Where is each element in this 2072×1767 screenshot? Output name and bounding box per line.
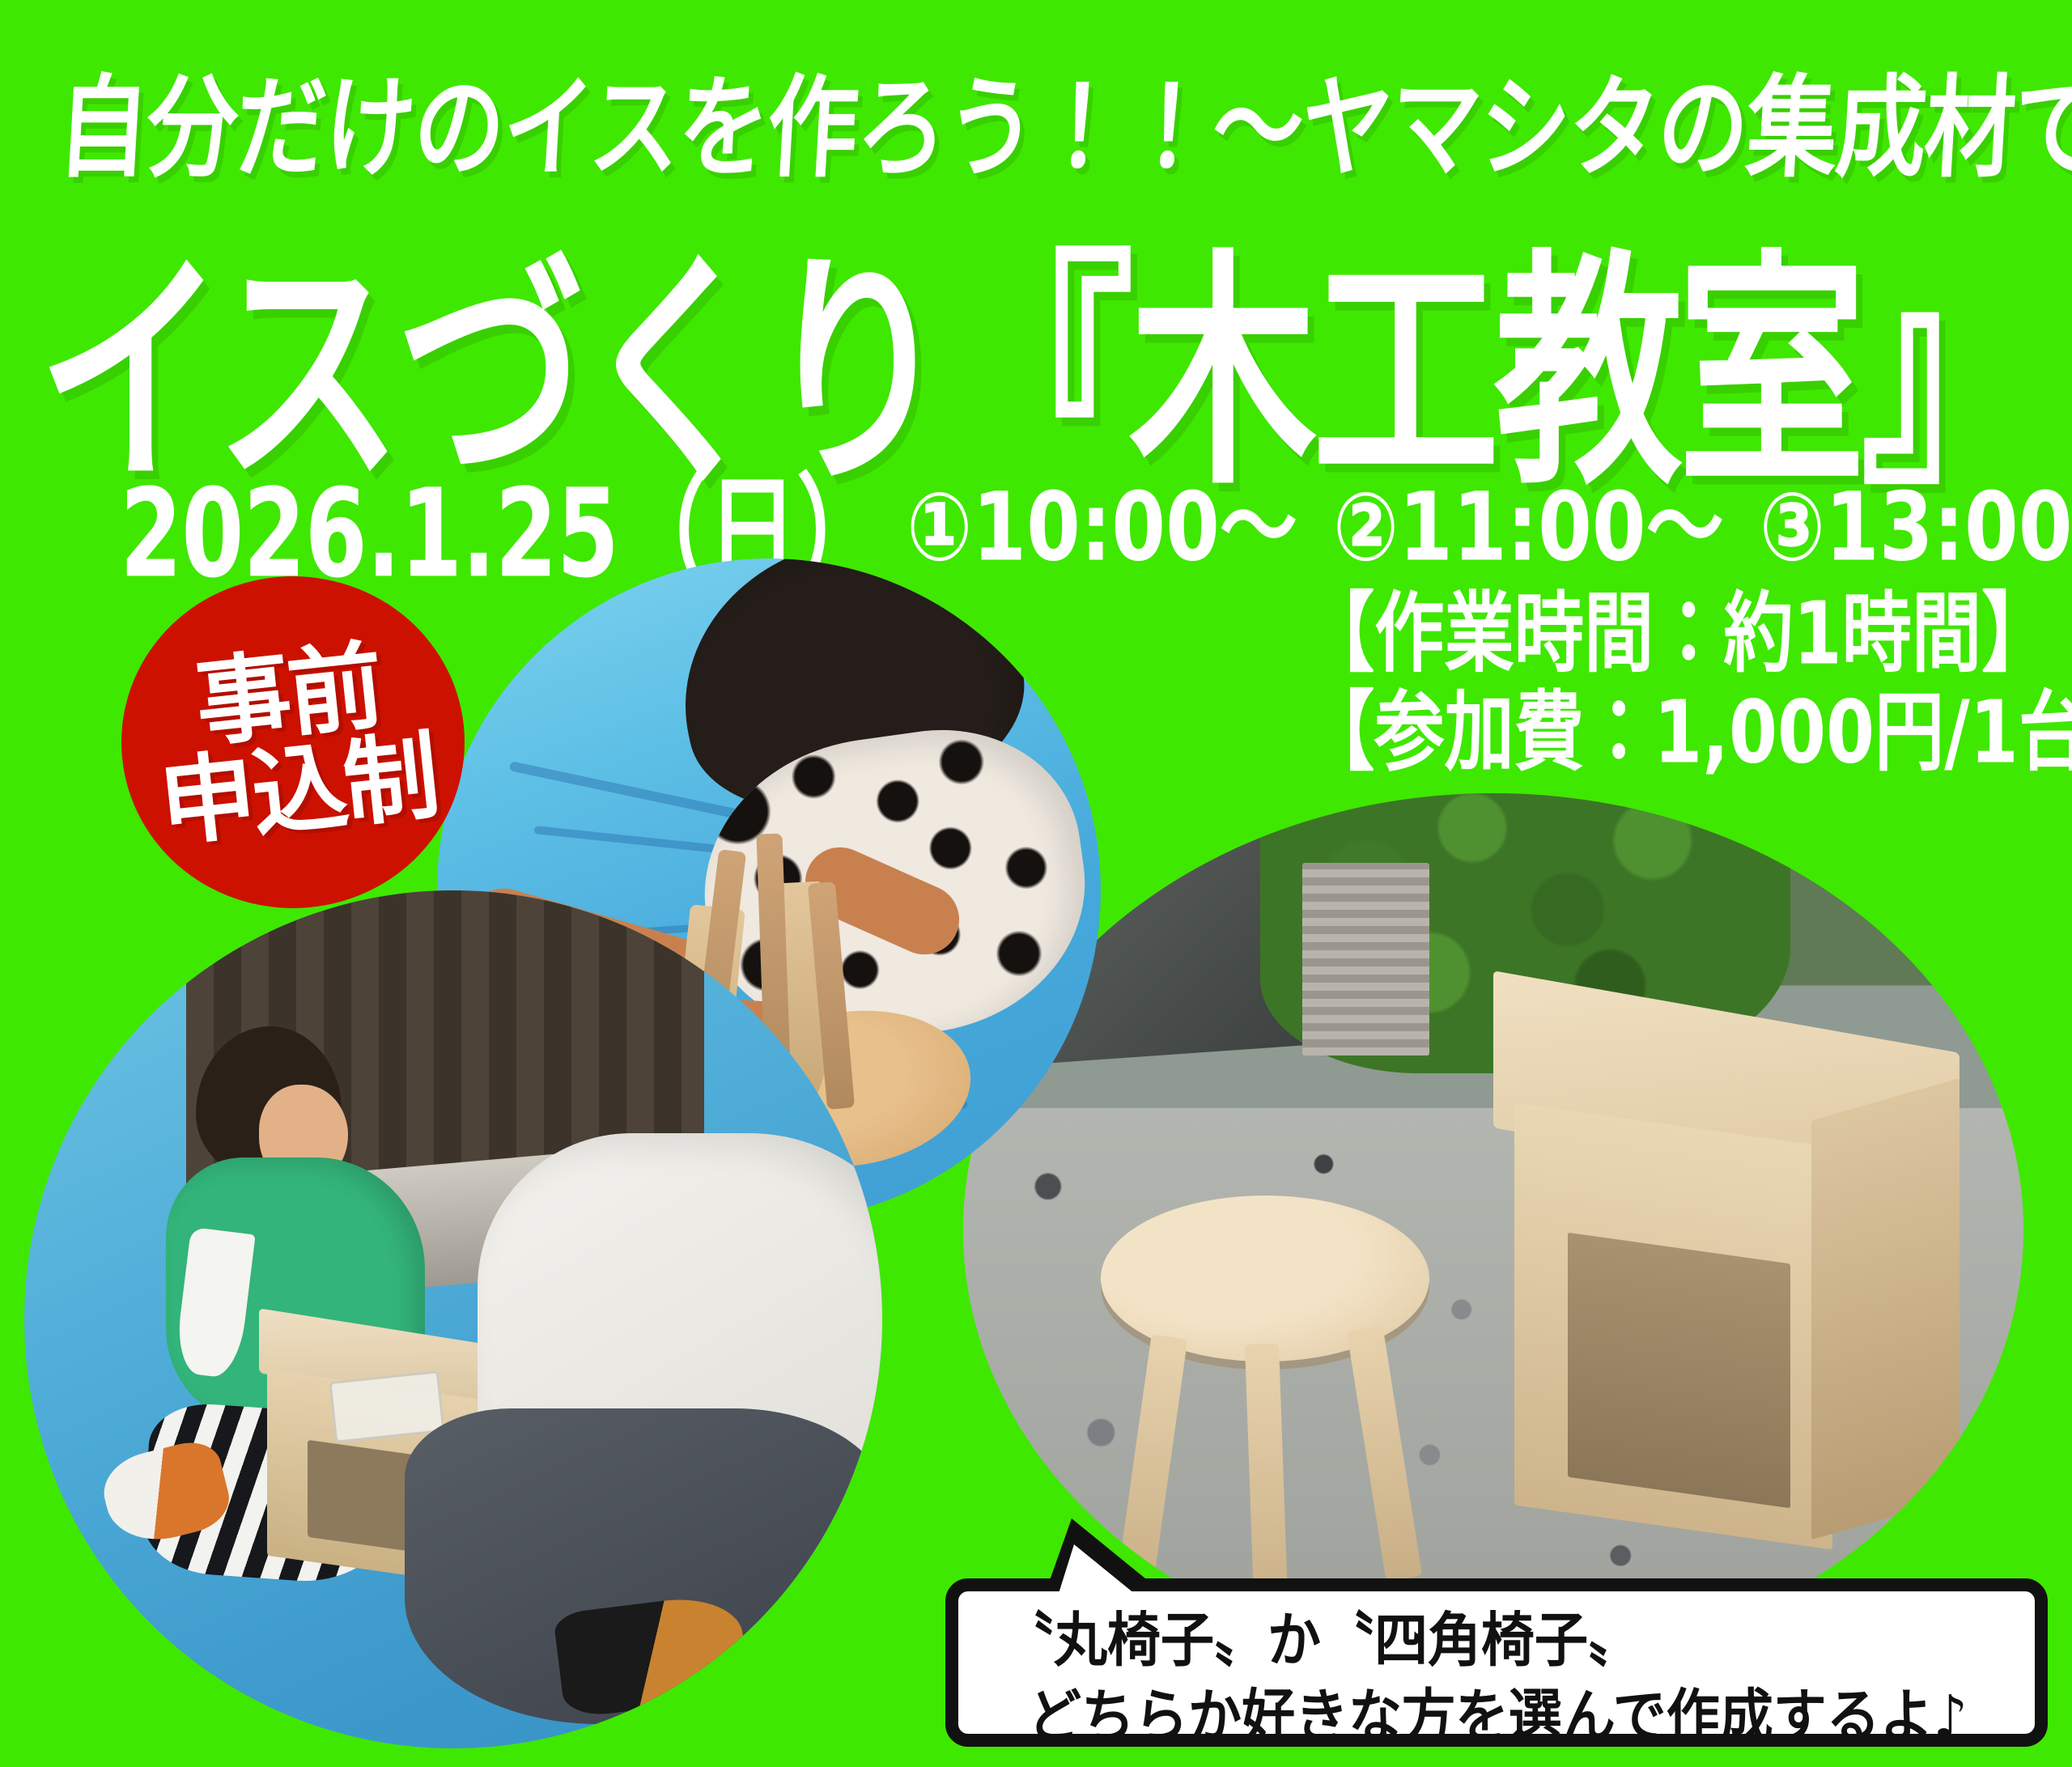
- square-stool-side: [1811, 1078, 1959, 1540]
- speech-bubble-text: 〝丸椅子〟か〝四角椅子〟 どちらか好きな方を選んで作成するよ♪: [1000, 1603, 1968, 1756]
- detail-work-time: 【作業時間：約1時間】: [1305, 584, 2072, 683]
- event-details: 【作業時間：約1時間】 【参加費：1,000円/1台】: [1305, 584, 2072, 783]
- poster-canvas: 自分だけのイスを作ろう！！～ヤマシタの集成材でＤＩＹ～ イスづくり『木工教室』 …: [0, 0, 2072, 1767]
- speech-bubble: 〝丸椅子〟か〝四角椅子〟 どちらか好きな方を選んで作成するよ♪: [945, 1578, 2048, 1747]
- photo-boy-and-adult-square-stool: [24, 890, 882, 1748]
- session-2: ②11:00～: [1333, 472, 1724, 583]
- badge-line-2: 申込制: [155, 728, 440, 852]
- session-3: ③13:00～: [1760, 472, 2072, 583]
- bubble-line-1: 〝丸椅子〟か〝四角椅子〟: [1000, 1603, 1968, 1679]
- detail-fee: 【参加費：1,000円/1台】: [1305, 683, 2072, 782]
- session-1: ①10:00～: [906, 472, 1297, 583]
- square-stool-opening: [1568, 1232, 1790, 1508]
- parts-container: [329, 1370, 444, 1443]
- bubble-line-2: どちらか好きな方を選んで作成するよ♪: [1000, 1679, 1968, 1755]
- concrete-block: [1302, 863, 1429, 1056]
- speech-bubble-tail-inner: [1056, 1544, 1144, 1601]
- status-badge: 事前 申込制: [121, 576, 465, 908]
- session-times: ①10:00～②11:00～③13:00～: [906, 450, 2072, 588]
- badge-text: 事前 申込制: [105, 559, 482, 925]
